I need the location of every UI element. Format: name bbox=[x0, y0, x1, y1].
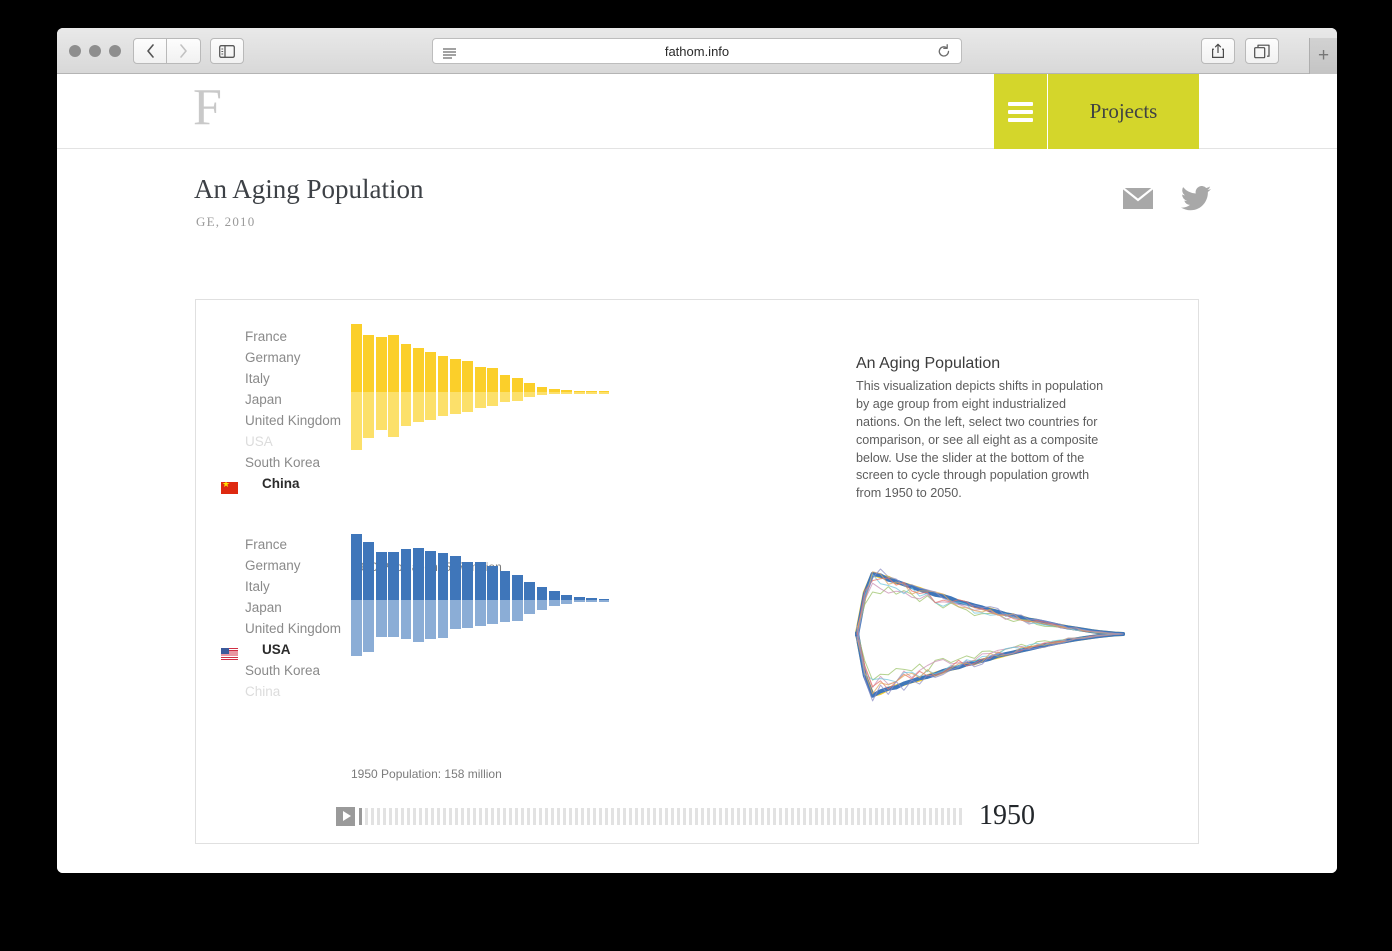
country-top-united-kingdom[interactable]: United Kingdom bbox=[221, 410, 341, 431]
slider-tick[interactable] bbox=[593, 808, 596, 825]
pyramid-bar bbox=[388, 322, 399, 452]
pyramid-bar bbox=[512, 322, 523, 452]
year-slider[interactable]: 1950 bbox=[336, 800, 1035, 832]
pyramid-bar-lower bbox=[363, 392, 374, 438]
slider-tick[interactable] bbox=[521, 808, 524, 825]
slider-tick[interactable] bbox=[359, 808, 362, 825]
slider-tick[interactable] bbox=[833, 808, 836, 825]
pyramid-bar-lower bbox=[524, 392, 535, 397]
slider-tick[interactable] bbox=[443, 808, 446, 825]
pyramid-bar-lower bbox=[487, 392, 498, 406]
country-label: Japan bbox=[221, 600, 282, 615]
back-button[interactable] bbox=[133, 38, 167, 64]
pyramid-bar-upper bbox=[537, 587, 548, 600]
country-top-south-korea[interactable]: South Korea bbox=[221, 452, 341, 473]
pyramid-bar-upper bbox=[425, 352, 436, 393]
pyramid-bar-upper bbox=[475, 562, 486, 600]
twitter-icon[interactable] bbox=[1181, 186, 1211, 216]
chevron-right-icon bbox=[179, 44, 188, 58]
page-content: F Projects An Aging Population GE, 2010 bbox=[57, 74, 1337, 873]
slider-tick[interactable] bbox=[851, 808, 854, 825]
page-subtitle: GE, 2010 bbox=[196, 214, 424, 230]
slider-tick[interactable] bbox=[713, 808, 716, 825]
pyramid-bar bbox=[500, 530, 511, 660]
slider-tick[interactable] bbox=[941, 808, 944, 825]
pyramid-bar bbox=[500, 322, 511, 452]
chevron-left-icon bbox=[146, 44, 155, 58]
country-label: Italy bbox=[221, 579, 270, 594]
slider-tick[interactable] bbox=[881, 808, 884, 825]
slider-tick[interactable] bbox=[935, 808, 938, 825]
maximize-button[interactable] bbox=[109, 45, 121, 57]
browser-toolbar: fathom.info bbox=[57, 28, 1337, 74]
slider-tick[interactable] bbox=[563, 808, 566, 825]
slider-tick[interactable] bbox=[785, 808, 788, 825]
pyramid-bar-upper bbox=[438, 356, 449, 392]
pyramid-bar bbox=[475, 322, 486, 452]
pyramid-bar bbox=[524, 530, 535, 660]
new-tab-button[interactable]: + bbox=[1309, 38, 1337, 74]
share-button[interactable] bbox=[1201, 38, 1235, 64]
country-label: South Korea bbox=[221, 455, 320, 470]
pyramid-bar-upper bbox=[549, 591, 560, 600]
window-controls[interactable] bbox=[69, 45, 121, 57]
pyramid-bar bbox=[549, 322, 560, 452]
country-top-usa[interactable]: USA bbox=[221, 431, 341, 452]
pyramid-bar bbox=[574, 322, 585, 452]
country-label: United Kingdom bbox=[221, 413, 341, 428]
pyramid-bar-upper bbox=[524, 383, 535, 392]
composite-chart bbox=[851, 560, 1131, 713]
slider-tick[interactable] bbox=[791, 808, 794, 825]
country-bottom-south-korea[interactable]: South Korea bbox=[221, 660, 341, 681]
slider-tick[interactable] bbox=[527, 808, 530, 825]
slider-tick[interactable] bbox=[551, 808, 554, 825]
population-caption-bottom: 1950 Population: 158 million bbox=[351, 767, 502, 781]
slider-tick[interactable] bbox=[821, 808, 824, 825]
pyramid-bar-lower bbox=[450, 600, 461, 629]
year-label: 1950 bbox=[979, 800, 1035, 832]
slider-tick[interactable] bbox=[599, 808, 602, 825]
pyramid-bar bbox=[413, 322, 424, 452]
flag-china-icon bbox=[221, 482, 238, 494]
pyramid-bar-upper bbox=[376, 337, 387, 392]
slider-tick[interactable] bbox=[491, 808, 494, 825]
composite-line-usa bbox=[857, 633, 1123, 696]
slider-tick[interactable] bbox=[437, 808, 440, 825]
slider-tick[interactable] bbox=[959, 808, 962, 825]
flag-usa-icon bbox=[221, 648, 238, 660]
pyramid-bar-lower bbox=[500, 392, 511, 402]
slider-tick[interactable] bbox=[887, 808, 890, 825]
pyramid-bar-lower bbox=[586, 600, 597, 602]
slider-tick[interactable] bbox=[893, 808, 896, 825]
slider-tick[interactable] bbox=[845, 808, 848, 825]
pyramid-bar bbox=[401, 530, 412, 660]
slider-tick[interactable] bbox=[863, 808, 866, 825]
pyramid-bar-lower bbox=[438, 392, 449, 415]
slider-tick[interactable] bbox=[635, 808, 638, 825]
slider-tick[interactable] bbox=[869, 808, 872, 825]
pyramid-bar bbox=[574, 530, 585, 660]
slider-tick[interactable] bbox=[797, 808, 800, 825]
pyramid-bar bbox=[388, 530, 399, 660]
slider-tick[interactable] bbox=[617, 808, 620, 825]
slider-tick[interactable] bbox=[665, 808, 668, 825]
pyramid-bar bbox=[401, 322, 412, 452]
pyramid-bar-upper bbox=[500, 571, 511, 601]
slider-tick[interactable] bbox=[587, 808, 590, 825]
pyramid-bar bbox=[524, 322, 535, 452]
slider-tick[interactable] bbox=[407, 808, 410, 825]
slider-tick[interactable] bbox=[371, 808, 374, 825]
slider-tick[interactable] bbox=[449, 808, 452, 825]
pyramid-bar-lower bbox=[413, 600, 424, 642]
reader-view-icon[interactable] bbox=[443, 46, 456, 64]
slider-tick[interactable] bbox=[605, 808, 608, 825]
slider-tick[interactable] bbox=[515, 808, 518, 825]
pyramid-bar-lower bbox=[549, 600, 560, 606]
pyramid-bar bbox=[425, 530, 436, 660]
share-icon bbox=[1211, 43, 1225, 59]
pyramid-bar bbox=[561, 322, 572, 452]
country-top-germany[interactable]: Germany bbox=[221, 347, 341, 368]
slider-tick[interactable] bbox=[533, 808, 536, 825]
slider-tick[interactable] bbox=[401, 808, 404, 825]
country-bottom-japan[interactable]: Japan bbox=[221, 597, 341, 618]
slider-tick[interactable] bbox=[743, 808, 746, 825]
slider-tick[interactable] bbox=[761, 808, 764, 825]
pyramid-bar bbox=[351, 530, 362, 660]
tabs-icon bbox=[1254, 44, 1270, 59]
pyramid-bar-upper bbox=[450, 359, 461, 392]
pyramid-bar bbox=[462, 322, 473, 452]
pyramid-bar-upper bbox=[512, 575, 523, 600]
pyramid-bar bbox=[413, 530, 424, 660]
slider-tick[interactable] bbox=[731, 808, 734, 825]
pyramid-bar bbox=[475, 530, 486, 660]
minimize-button[interactable] bbox=[89, 45, 101, 57]
pyramid-bar-upper bbox=[413, 348, 424, 392]
slider-tick[interactable] bbox=[539, 808, 542, 825]
slider-tick[interactable] bbox=[431, 808, 434, 825]
description-body: This visualization depicts shifts in pop… bbox=[856, 378, 1106, 503]
site-logo[interactable]: F bbox=[193, 82, 222, 134]
slider-tick[interactable] bbox=[923, 808, 926, 825]
nav-item-projects-label: Projects bbox=[1090, 99, 1158, 124]
slider-tick[interactable] bbox=[623, 808, 626, 825]
china-population-pyramid bbox=[351, 322, 611, 452]
slider-tick[interactable] bbox=[953, 808, 956, 825]
slider-tick[interactable] bbox=[509, 808, 512, 825]
country-label: United Kingdom bbox=[221, 621, 341, 636]
slider-tick[interactable] bbox=[377, 808, 380, 825]
pyramid-bar-upper bbox=[388, 335, 399, 392]
pyramid-bar-upper bbox=[462, 361, 473, 392]
description-title: An Aging Population bbox=[856, 355, 1106, 373]
pyramid-bar-lower bbox=[537, 600, 548, 609]
country-bottom-united-kingdom[interactable]: United Kingdom bbox=[221, 618, 341, 639]
pyramid-bar-upper bbox=[363, 335, 374, 392]
pyramid-bar bbox=[586, 322, 597, 452]
visualization-panel: FranceGermanyItalyJapanUnited KingdomUSA… bbox=[195, 299, 1199, 844]
slider-tick[interactable] bbox=[827, 808, 830, 825]
sidebar-icon bbox=[219, 45, 235, 58]
slider-tick[interactable] bbox=[719, 808, 722, 825]
slider-tick[interactable] bbox=[815, 808, 818, 825]
country-bottom-italy[interactable]: Italy bbox=[221, 576, 341, 597]
slider-tick[interactable] bbox=[929, 808, 932, 825]
pyramid-bar-upper bbox=[500, 375, 511, 393]
pyramid-bar-upper bbox=[413, 548, 424, 601]
slider-tick[interactable] bbox=[839, 808, 842, 825]
slider-tick[interactable] bbox=[755, 808, 758, 825]
pyramid-bar bbox=[438, 322, 449, 452]
play-button[interactable] bbox=[336, 807, 355, 826]
pyramid-bar-upper bbox=[450, 556, 461, 600]
pyramid-bar-lower bbox=[537, 392, 548, 395]
slider-tick[interactable] bbox=[581, 808, 584, 825]
country-label: South Korea bbox=[221, 663, 320, 678]
pyramid-bar bbox=[363, 322, 374, 452]
pyramid-bar-lower bbox=[450, 392, 461, 413]
pyramid-bar-lower bbox=[574, 600, 585, 602]
pyramid-bar bbox=[450, 530, 461, 660]
pyramid-bar-lower bbox=[512, 600, 523, 621]
site-header: F Projects bbox=[57, 74, 1337, 149]
country-label: Italy bbox=[221, 371, 270, 386]
nav-item-projects[interactable]: Projects bbox=[1048, 74, 1199, 149]
pyramid-bar-lower bbox=[401, 600, 412, 639]
pyramid-bar-lower bbox=[561, 392, 572, 394]
slider-tick[interactable] bbox=[629, 808, 632, 825]
pyramid-bar-upper bbox=[475, 367, 486, 392]
hamburger-icon bbox=[1008, 98, 1033, 126]
pyramid-bar bbox=[376, 530, 387, 660]
pyramid-bar-upper bbox=[512, 378, 523, 392]
pyramid-bar-lower bbox=[425, 600, 436, 639]
country-bottom-usa[interactable]: USA bbox=[221, 639, 341, 660]
pyramid-bar-upper bbox=[487, 368, 498, 392]
slider-tick[interactable] bbox=[383, 808, 386, 825]
country-label: Germany bbox=[221, 558, 301, 573]
slider-tick[interactable] bbox=[917, 808, 920, 825]
slider-tick[interactable] bbox=[683, 808, 686, 825]
pyramid-bar-lower bbox=[376, 600, 387, 636]
pyramid-bar-upper bbox=[401, 344, 412, 392]
country-top-china[interactable]: China bbox=[221, 473, 341, 494]
pyramid-bar bbox=[549, 530, 560, 660]
pyramid-bar-upper bbox=[487, 566, 498, 600]
sidebar-toggle-button[interactable] bbox=[210, 38, 244, 64]
pyramid-bar-lower bbox=[599, 600, 610, 602]
slider-tick[interactable] bbox=[395, 808, 398, 825]
slider-tick[interactable] bbox=[773, 808, 776, 825]
pyramid-bar-lower bbox=[599, 392, 610, 394]
pyramid-bar bbox=[487, 322, 498, 452]
country-top-italy[interactable]: Italy bbox=[221, 368, 341, 389]
menu-button[interactable] bbox=[994, 74, 1048, 149]
slider-tick[interactable] bbox=[875, 808, 878, 825]
pyramid-bar bbox=[438, 530, 449, 660]
country-label: China bbox=[221, 684, 280, 699]
slider-tick[interactable] bbox=[485, 808, 488, 825]
pyramid-bar bbox=[487, 530, 498, 660]
pyramid-bar-lower bbox=[574, 392, 585, 394]
page-title: An Aging Population bbox=[194, 174, 424, 205]
forward-button[interactable] bbox=[167, 38, 201, 64]
pyramid-bar-upper bbox=[401, 549, 412, 601]
country-selector-bottom[interactable]: FranceGermanyItalyJapanUnited KingdomUSA… bbox=[221, 534, 341, 702]
slider-tick[interactable] bbox=[473, 808, 476, 825]
slider-tick[interactable] bbox=[575, 808, 578, 825]
pyramid-bar-lower bbox=[512, 392, 523, 400]
country-top-france[interactable]: France bbox=[221, 326, 341, 347]
pyramid-bar-lower bbox=[413, 392, 424, 422]
slider-tick[interactable] bbox=[455, 808, 458, 825]
slider-tick[interactable] bbox=[557, 808, 560, 825]
slider-tick[interactable] bbox=[809, 808, 812, 825]
slider-tick[interactable] bbox=[725, 808, 728, 825]
country-label: France bbox=[221, 537, 287, 552]
slider-tick[interactable] bbox=[947, 808, 950, 825]
pyramid-bar bbox=[537, 530, 548, 660]
slider-tick[interactable] bbox=[779, 808, 782, 825]
country-label: France bbox=[221, 329, 287, 344]
pyramid-bar-lower bbox=[351, 392, 362, 450]
pyramid-bar bbox=[537, 322, 548, 452]
slider-tick[interactable] bbox=[857, 808, 860, 825]
pyramid-bar-upper bbox=[351, 324, 362, 392]
pyramid-bar bbox=[561, 530, 572, 660]
pyramid-bar-lower bbox=[487, 600, 498, 624]
pyramid-bar-lower bbox=[561, 600, 572, 604]
pyramid-bar bbox=[462, 530, 473, 660]
pyramid-bar-lower bbox=[475, 392, 486, 408]
browser-window: fathom.info bbox=[57, 28, 1337, 873]
slider-tick[interactable] bbox=[911, 808, 914, 825]
pyramid-bar-lower bbox=[388, 392, 399, 437]
slider-tick[interactable] bbox=[479, 808, 482, 825]
slider-tick[interactable] bbox=[737, 808, 740, 825]
country-top-japan[interactable]: Japan bbox=[221, 389, 341, 410]
pyramid-bar-lower bbox=[500, 600, 511, 621]
slider-tick[interactable] bbox=[749, 808, 752, 825]
pyramid-bar-upper bbox=[425, 551, 436, 600]
slider-tick[interactable] bbox=[905, 808, 908, 825]
pyramid-bar-lower bbox=[462, 392, 473, 412]
pyramid-bar-lower bbox=[401, 392, 412, 426]
slider-tick[interactable] bbox=[899, 808, 902, 825]
url-text[interactable]: fathom.info bbox=[665, 44, 729, 59]
pyramid-bar-lower bbox=[462, 600, 473, 628]
pyramid-bar-upper bbox=[388, 552, 399, 600]
pyramid-bar bbox=[450, 322, 461, 452]
country-label: Japan bbox=[221, 392, 282, 407]
email-icon[interactable] bbox=[1123, 188, 1153, 214]
new-tab-label: + bbox=[1318, 45, 1329, 67]
reload-icon[interactable] bbox=[937, 44, 951, 62]
pyramid-bar-lower bbox=[586, 392, 597, 394]
slider-tick[interactable] bbox=[707, 808, 710, 825]
country-bottom-china[interactable]: China bbox=[221, 681, 341, 702]
slider-tick[interactable] bbox=[425, 808, 428, 825]
pyramid-bar-lower bbox=[388, 600, 399, 636]
slider-tick[interactable] bbox=[659, 808, 662, 825]
pyramid-bar bbox=[425, 322, 436, 452]
slider-tick[interactable] bbox=[389, 808, 392, 825]
slider-tick[interactable] bbox=[677, 808, 680, 825]
slider-tick[interactable] bbox=[647, 808, 650, 825]
social-icons bbox=[1123, 186, 1211, 216]
sidebar-toggle-wrap[interactable] bbox=[210, 38, 244, 64]
pyramid-bar-lower bbox=[438, 600, 449, 637]
slider-tick[interactable] bbox=[611, 808, 614, 825]
slider-tick[interactable] bbox=[803, 808, 806, 825]
title-block: An Aging Population GE, 2010 bbox=[194, 174, 424, 230]
slider-tick[interactable] bbox=[503, 808, 506, 825]
slider-tick[interactable] bbox=[413, 808, 416, 825]
pyramid-bar-lower bbox=[475, 600, 486, 626]
country-selector-top[interactable]: FranceGermanyItalyJapanUnited KingdomUSA… bbox=[221, 326, 341, 494]
slider-tick[interactable] bbox=[461, 808, 464, 825]
description-block: An Aging Population This visualization d… bbox=[856, 355, 1106, 503]
pyramid-bar-lower bbox=[351, 600, 362, 656]
pyramid-bar bbox=[599, 530, 610, 660]
address-bar[interactable]: fathom.info bbox=[432, 38, 962, 64]
close-button[interactable] bbox=[69, 45, 81, 57]
navigation-buttons[interactable] bbox=[133, 38, 201, 64]
slider-tick[interactable] bbox=[497, 808, 500, 825]
slider-tick[interactable] bbox=[569, 808, 572, 825]
slider-tick[interactable] bbox=[653, 808, 656, 825]
slider-tick[interactable] bbox=[467, 808, 470, 825]
slider-ticks[interactable] bbox=[359, 807, 965, 826]
slider-tick[interactable] bbox=[767, 808, 770, 825]
slider-tick[interactable] bbox=[671, 808, 674, 825]
usa-population-pyramid bbox=[351, 530, 611, 660]
country-bottom-france[interactable]: France bbox=[221, 534, 341, 555]
pyramid-bar-lower bbox=[376, 392, 387, 430]
pyramid-bar bbox=[599, 322, 610, 452]
country-label: USA bbox=[221, 434, 273, 449]
country-bottom-germany[interactable]: Germany bbox=[221, 555, 341, 576]
pyramid-bar-upper bbox=[524, 582, 535, 601]
country-label: USA bbox=[238, 642, 291, 657]
show-tabs-button[interactable] bbox=[1245, 38, 1279, 64]
slider-tick[interactable] bbox=[701, 808, 704, 825]
pyramid-bar-lower bbox=[524, 600, 535, 614]
pyramid-bar bbox=[586, 530, 597, 660]
composite-line-usa bbox=[857, 574, 1123, 635]
slider-tick[interactable] bbox=[365, 808, 368, 825]
pyramid-bar-lower bbox=[363, 600, 374, 651]
slider-tick[interactable] bbox=[641, 808, 644, 825]
pyramid-bar-upper bbox=[376, 552, 387, 600]
toolbar-right-buttons[interactable] bbox=[1201, 38, 1279, 64]
slider-tick[interactable] bbox=[689, 808, 692, 825]
pyramid-bar bbox=[376, 322, 387, 452]
slider-tick[interactable] bbox=[695, 808, 698, 825]
pyramid-bar-lower bbox=[549, 392, 560, 394]
play-icon bbox=[343, 811, 351, 821]
pyramid-bar bbox=[363, 530, 374, 660]
slider-tick[interactable] bbox=[545, 808, 548, 825]
pyramid-bar bbox=[351, 322, 362, 452]
composite-lines-svg bbox=[851, 560, 1131, 708]
country-label: Germany bbox=[221, 350, 301, 365]
slider-tick[interactable] bbox=[419, 808, 422, 825]
